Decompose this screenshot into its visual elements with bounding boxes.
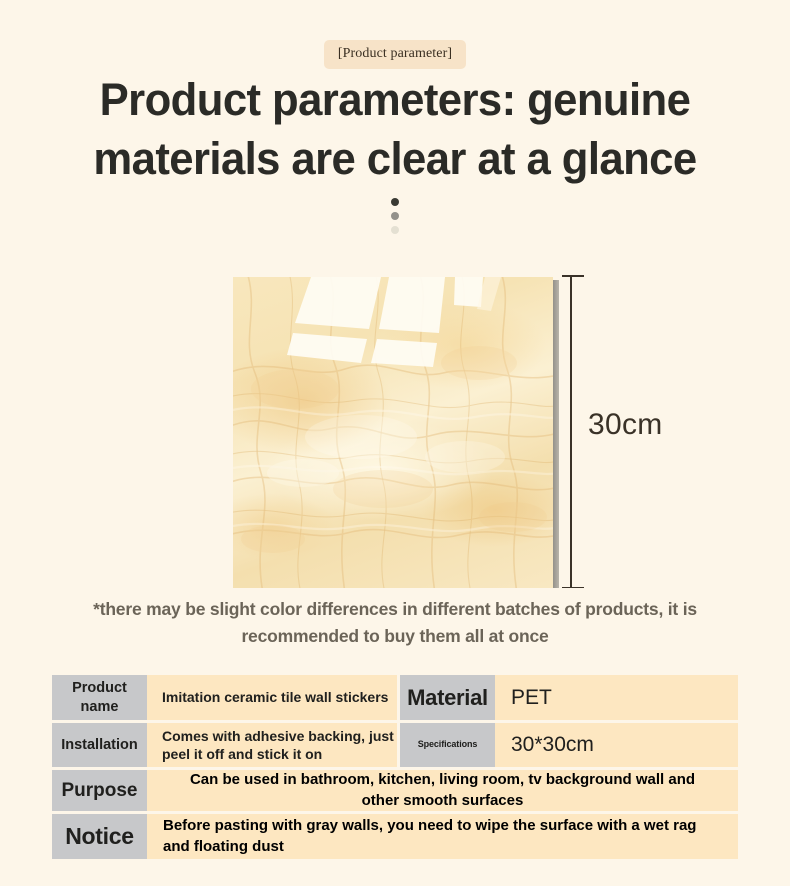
row-value-notice: Before pasting with gray walls, you need… (147, 814, 738, 859)
row-label-specifications: Specifications (400, 723, 495, 767)
table-row-notice: Notice Before pasting with gray walls, y… (52, 814, 738, 859)
row-label-material: Material (400, 675, 495, 720)
table-row-purpose: Purpose Can be used in bathroom, kitchen… (52, 770, 738, 811)
dot-icon-1 (391, 198, 399, 206)
page-title-line-1: Product parameters: genuine (12, 70, 778, 129)
row-value-purpose-line-1: Can be used in bathroom, kitchen, living… (190, 770, 695, 790)
row-label-notice: Notice (52, 814, 147, 859)
color-difference-disclaimer: *there may be slight color differences i… (28, 596, 762, 650)
disclaimer-line-2: recommended to buy them all at once (28, 623, 762, 650)
page-title-line-2: materials are clear at a glance (12, 129, 778, 188)
row-value-installation: Comes with adhesive backing, just peel i… (147, 723, 397, 767)
row-value-material: PET (495, 675, 738, 720)
product-parameter-badge-row: [Product parameter] (0, 40, 790, 69)
row-value-purpose: Can be used in bathroom, kitchen, living… (147, 770, 738, 811)
row-value-specifications: 30*30cm (495, 723, 738, 767)
window-reflection (233, 277, 553, 588)
dot-icon-2 (391, 212, 399, 220)
decorative-dots (0, 198, 790, 234)
table-row-product-name: Product name Imitation ceramic tile wall… (52, 675, 738, 720)
row-value-notice-line-2: and floating dust (163, 837, 696, 857)
row-label-purpose: Purpose (52, 770, 147, 811)
table-row-installation: Installation Comes with adhesive backing… (52, 723, 738, 767)
dimension-cap-bottom (562, 587, 584, 589)
tile-surface (233, 277, 553, 588)
row-value-notice-line-1: Before pasting with gray walls, you need… (163, 816, 696, 836)
dimension-line (570, 275, 572, 588)
dimension-cap-top (562, 275, 584, 277)
row-label-installation: Installation (52, 723, 147, 767)
row-value-product-name: Imitation ceramic tile wall stickers (147, 675, 397, 720)
dimension-marker-vertical (562, 275, 584, 588)
row-label-product-name: Product name (52, 675, 147, 720)
page-title: Product parameters: genuine materials ar… (12, 70, 778, 188)
product-parameter-badge: [Product parameter] (324, 40, 466, 69)
disclaimer-line-1: *there may be slight color differences i… (28, 596, 762, 623)
tile-side-edge (553, 280, 559, 588)
specification-table: Product name Imitation ceramic tile wall… (52, 675, 738, 862)
dimension-label: 30cm (588, 408, 663, 442)
row-value-purpose-line-2: other smooth surfaces (190, 791, 695, 811)
dot-icon-3 (391, 226, 399, 234)
product-image (233, 277, 559, 588)
